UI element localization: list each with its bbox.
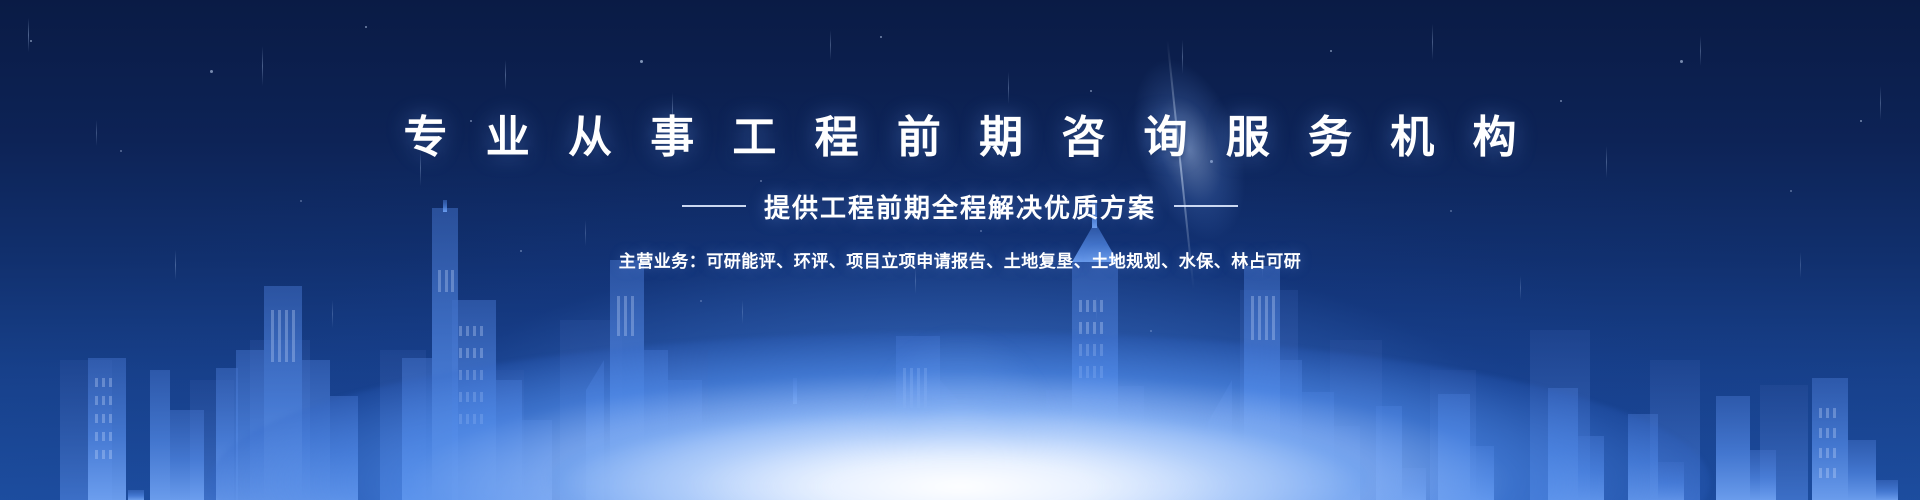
banner-content: 专 业 从 事 工 程 前 期 咨 询 服 务 机 构 提供工程前期全程解决优质… [0,0,1920,272]
banner-headline: 专 业 从 事 工 程 前 期 咨 询 服 务 机 构 [0,0,1920,164]
banner-subtitle: 提供工程前期全程解决优质方案 [764,188,1156,225]
dash-left-decoration [682,205,746,207]
hero-banner: 专 业 从 事 工 程 前 期 咨 询 服 务 机 构 提供工程前期全程解决优质… [0,0,1920,500]
banner-business-line: 主营业务：可研能评、环评、项目立项申请报告、土地复垦、土地规划、水保、林占可研 [0,247,1920,272]
banner-subtitle-row: 提供工程前期全程解决优质方案 [0,188,1920,225]
dash-right-decoration [1174,205,1238,207]
